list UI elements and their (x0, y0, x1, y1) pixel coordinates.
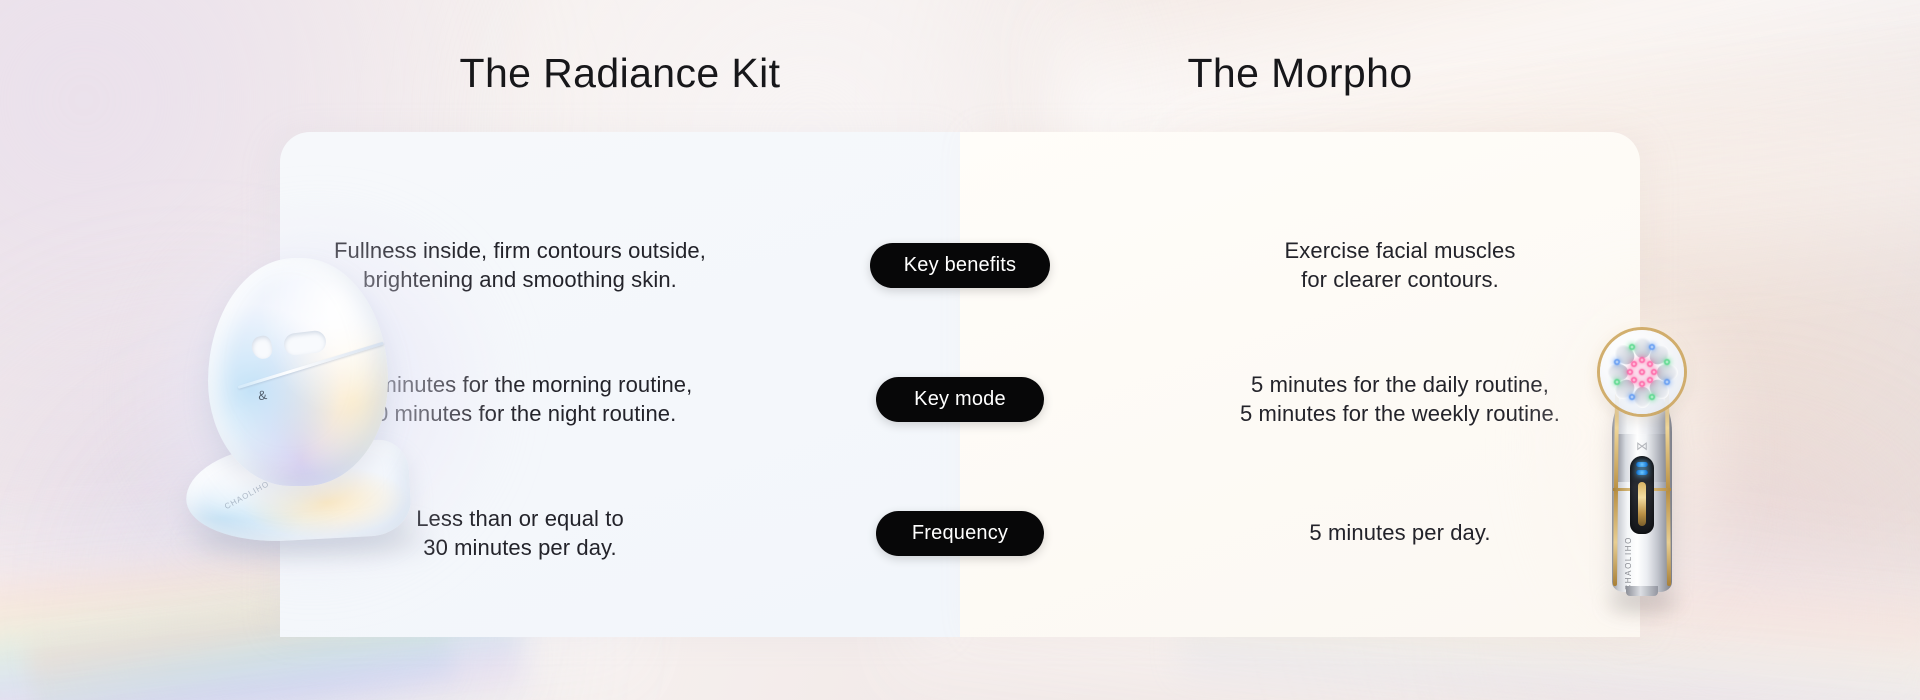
column-titles: The Radiance Kit The Morpho (280, 50, 1640, 97)
row-value-right: Exercise facial muscles for clearer cont… (1152, 236, 1640, 294)
column-title-radiance-kit: The Radiance Kit (280, 50, 960, 97)
title-cell-right: The Morpho (960, 50, 1640, 97)
comparison-row: Less than or equal to 30 minutes per day… (280, 478, 1640, 588)
title-cell-left: The Radiance Kit (280, 50, 960, 97)
comparison-rows: Fullness inside, firm contours outside, … (280, 132, 1640, 637)
row-value-right: 5 minutes for the daily routine, 5 minut… (1152, 370, 1640, 428)
comparison-row: Fullness inside, firm contours outside, … (280, 210, 1640, 320)
row-value-right: 5 minutes per day. (1152, 518, 1640, 547)
pill-wrap: Frequency (768, 511, 1152, 556)
pill-key-benefits[interactable]: Key benefits (870, 243, 1050, 288)
row-value-left: Fullness inside, firm contours outside, … (280, 236, 768, 294)
pill-wrap: Key benefits (768, 243, 1152, 288)
pill-key-mode[interactable]: Key mode (876, 377, 1044, 422)
column-title-morpho: The Morpho (960, 50, 1640, 97)
pill-frequency[interactable]: Frequency (876, 511, 1044, 556)
row-value-left: 10 minutes for the morning routine, 20 m… (280, 370, 768, 428)
comparison-row: 10 minutes for the morning routine, 20 m… (280, 344, 1640, 454)
row-value-left: Less than or equal to 30 minutes per day… (280, 504, 768, 562)
pill-wrap: Key mode (768, 377, 1152, 422)
comparison-banner: VS The Radiance Kit The Morpho Fullness … (0, 0, 1920, 700)
